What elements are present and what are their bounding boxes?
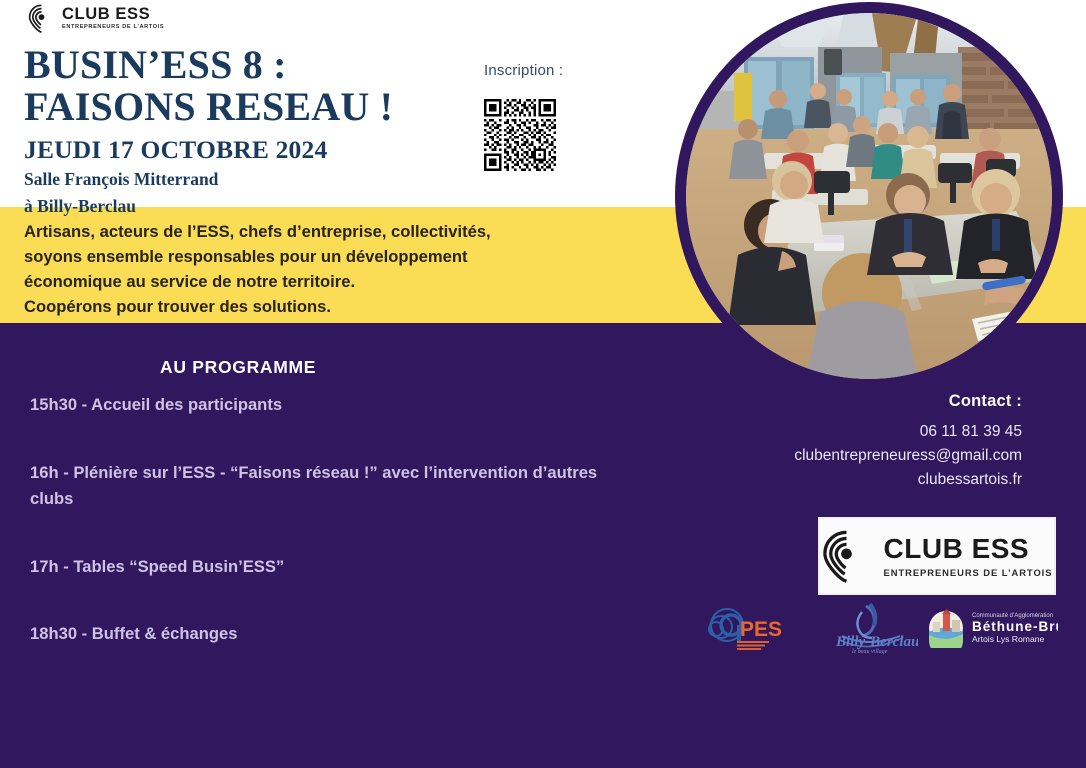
billy-berclau-logo: Billy-Berclau le beau village — [818, 602, 918, 654]
banner-line-3: économique au service de notre territoir… — [24, 269, 644, 294]
qr-code-icon[interactable] — [484, 99, 556, 171]
banner-line-4: Coopérons pour trouver des solutions. — [24, 294, 644, 319]
svg-text:Béthune-Bruay: Béthune-Bruay — [972, 619, 1058, 634]
contact-website[interactable]: clubessartois.fr — [692, 469, 1022, 491]
banner-line-1: Artisans, acteurs de l’ESS, chefs d’entr… — [24, 219, 644, 244]
contact-title: Contact : — [692, 392, 1022, 411]
svg-text:le beau village: le beau village — [852, 649, 888, 654]
brand-subtitle: ENTREPRENEURS DE L'ARTOIS — [62, 25, 164, 31]
inscription-label: Inscription : — [484, 62, 604, 79]
club-ess-logo-box: CLUB ESS ENTREPRENEURS DE L’ARTOIS — [818, 517, 1056, 595]
programme-item: 15h30 - Accueil des participants — [30, 392, 645, 419]
header-brand: CLUB ESS ENTREPRENEURS DE L'ARTOIS — [28, 4, 164, 33]
contact-phone[interactable]: 06 11 81 39 45 — [692, 421, 1022, 443]
club-ess-pin-icon — [822, 530, 871, 582]
banner-text: Artisans, acteurs de l’ESS, chefs d’entr… — [24, 219, 644, 319]
partner-logos: PES Billy-Berclau le beau village — [700, 602, 1060, 654]
bethune-bruay-logo: Communauté d’Agglomération Béthune-Bruay… — [926, 608, 1058, 648]
inscription-block: Inscription : — [484, 62, 604, 171]
svg-text:Billy-Berclau: Billy-Berclau — [835, 634, 918, 650]
club-ess-subtitle: ENTREPRENEURS DE L’ARTOIS — [884, 568, 1053, 577]
club-ess-title: CLUB ESS — [884, 535, 1053, 563]
programme-list: 15h30 - Accueil des participants 16h - P… — [30, 392, 645, 648]
programme-item: 16h - Plénière sur l’ESS - “Faisons rése… — [30, 460, 645, 513]
banner-line-2: soyons ensemble responsables pour un dév… — [24, 244, 644, 269]
svg-text:Artois Lys Romane: Artois Lys Romane — [972, 634, 1044, 644]
brand-title: CLUB ESS — [62, 6, 164, 23]
header-brand-words: CLUB ESS ENTREPRENEURS DE L'ARTOIS — [62, 6, 164, 31]
event-date: JEUDI 17 OCTOBRE 2024 — [24, 136, 494, 164]
svg-text:PES: PES — [740, 618, 782, 641]
poster-canvas: CLUB ESS ENTREPRENEURS DE L'ARTOIS BUSIN… — [0, 0, 1086, 768]
contact-block: Contact : 06 11 81 39 45 clubentrepreneu… — [692, 392, 1022, 491]
venue-line-1: Salle François Mitterrand — [24, 169, 494, 191]
venue-line-2: à Billy-Berclau — [24, 196, 494, 218]
programme-item: 17h - Tables “Speed Busin’ESS” — [30, 554, 645, 581]
programme-heading: AU PROGRAMME — [160, 357, 316, 378]
headline-line-2: FAISONS RESEAU ! — [24, 86, 494, 128]
club-ess-pin-icon — [28, 4, 55, 33]
event-photo — [675, 2, 1063, 390]
contact-email[interactable]: clubentrepreneuress@gmail.com — [692, 445, 1022, 467]
apes-logo: PES — [707, 606, 783, 652]
event-photo-image — [686, 13, 1052, 379]
headline-line-1: BUSIN’ESS 8 : — [24, 44, 494, 86]
headline-block: BUSIN’ESS 8 : FAISONS RESEAU ! JEUDI 17 … — [24, 44, 494, 218]
programme-item: 18h30 - Buffet & échanges — [30, 621, 645, 648]
club-ess-logo-words: CLUB ESS ENTREPRENEURS DE L’ARTOIS — [884, 535, 1053, 577]
